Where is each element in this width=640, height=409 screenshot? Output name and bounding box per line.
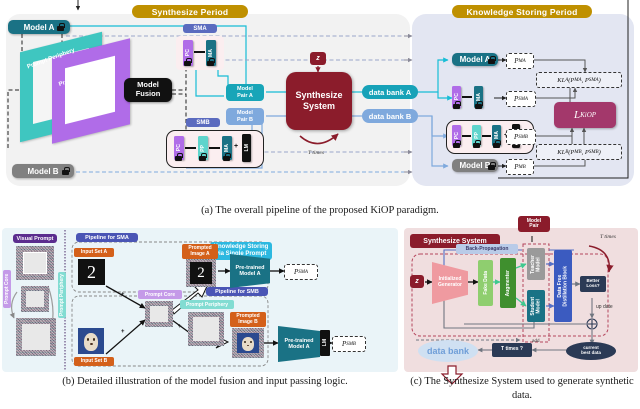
- prompted-digit-a: 2: [190, 262, 212, 284]
- teacher-model-block: Teacher Model: [527, 248, 545, 280]
- mp-l2: Pair: [527, 224, 541, 230]
- smb-arrow-1: [185, 147, 196, 149]
- pia-l2: Image A: [188, 252, 211, 258]
- pib-l2: Image B: [236, 320, 259, 326]
- prompt-periphery-image: [188, 312, 224, 346]
- pair-a-line1: Model: [237, 86, 253, 92]
- sma-tag: SMA: [183, 24, 217, 33]
- lock-icon: [207, 58, 214, 66]
- smb-ma-label: MA: [224, 144, 230, 152]
- synthesize-line2: System: [295, 101, 342, 112]
- data-bank-ellipse: data bank: [418, 340, 478, 362]
- prompted-image-a: 2: [186, 259, 216, 287]
- sma-ma-label: MA: [208, 49, 214, 57]
- kl-b-close: ): [599, 149, 601, 156]
- smb-lm-label: LM: [244, 144, 250, 152]
- prompt-core-image: [145, 301, 173, 327]
- store-smb-pp-label: PP: [474, 132, 480, 139]
- caption-c: (c) The Synthesize System used to genera…: [406, 375, 638, 403]
- lock-icon: [62, 167, 69, 175]
- caption-b: (b) Detailed illustration of the model f…: [10, 375, 400, 389]
- dfd-l2: Distillation Block: [562, 266, 568, 307]
- data-free-distillation-block: Data Free Distillation Block: [554, 250, 572, 322]
- prompted-image-b: [232, 328, 264, 358]
- prompt-periphery-tag-left: Prompt Periphery: [58, 272, 66, 318]
- kl-a-box: KLA(PMA, PSMA): [536, 72, 622, 88]
- lock-icon: [57, 23, 64, 31]
- smb-pp-label: PP: [200, 145, 206, 152]
- lock-icon: [175, 153, 182, 161]
- pretrained-model-a-smb[interactable]: Pre-trained Model A: [278, 326, 320, 362]
- knowledge-storing-period-label: Knowledge Storing Period: [452, 5, 592, 18]
- synthesize-system-box[interactable]: Synthesize System: [286, 72, 352, 130]
- data-bank-b[interactable]: data bank B: [362, 109, 418, 123]
- pipeline-smb-tag: Pipeline for SMB: [206, 287, 268, 296]
- plus-a: +: [121, 292, 125, 298]
- lock-icon: [475, 101, 482, 109]
- store-sma-arrow: [462, 96, 472, 98]
- p-smb-box-b: PSMB: [332, 336, 366, 352]
- kl-b-mid: , P: [582, 149, 589, 156]
- better-loss-box: Better Loss?: [580, 276, 606, 292]
- store-smb-pc-label: PC: [454, 132, 460, 139]
- bl-l2: Loss?: [586, 284, 599, 289]
- store-smb-arrow1: [462, 135, 471, 137]
- lock-icon: [453, 140, 460, 148]
- kl-a-symbol: KL: [557, 77, 565, 84]
- update-label: up date: [596, 304, 613, 310]
- lm-label-b: LM: [322, 339, 328, 346]
- n-times-label-c: T times: [600, 234, 616, 240]
- ks-line1: Knowledge Storing: [214, 244, 269, 251]
- lock-icon: [488, 56, 495, 64]
- back-propagation-tag: Back-Propagation: [456, 244, 518, 254]
- kl-a-mid: , P: [582, 77, 589, 84]
- synthesize-period-label: Synthesize Period: [132, 5, 248, 18]
- lock-icon: [223, 153, 230, 161]
- smb-tag: SMB: [186, 118, 220, 127]
- model-pair-tag-c: Model Pair: [518, 216, 550, 232]
- store-pc-label: PC: [454, 93, 460, 100]
- model-fusion-line2: Fusion: [136, 90, 161, 99]
- kl-b-arg2: SMB: [589, 150, 599, 155]
- pair-b-line1: Model: [237, 110, 253, 116]
- store-smb-arrow2: [482, 135, 491, 137]
- prompt-core-tag-mid: Prompt Core: [138, 290, 182, 299]
- smb-plus: +: [234, 143, 238, 150]
- model-pair-b-tag[interactable]: Model Pair B: [226, 108, 264, 125]
- synthesize-line1: Synthesize: [295, 90, 342, 101]
- smb-lm-block: LM: [242, 134, 251, 162]
- fake-data-label: Fake Data: [483, 271, 489, 295]
- input-digit-a: 2: [78, 259, 105, 285]
- student-model-block: Student Model: [527, 290, 545, 322]
- p-mb-subscript: MB: [519, 165, 526, 170]
- input-set-a-tag: Input Set A: [74, 248, 114, 257]
- pipeline-sma-tag: Pipeline for SMA: [76, 233, 138, 242]
- current-best-data-ellipse: current best data: [566, 342, 616, 360]
- z-box-c: z: [410, 275, 424, 288]
- pmB-l2: Model A: [284, 344, 313, 350]
- cbd-l2: best data: [581, 351, 601, 356]
- prompt-core-patch: [21, 286, 49, 312]
- lock-icon: [199, 153, 206, 161]
- augmenter-label: Augmenter: [505, 270, 511, 296]
- augmenter-block: Augmenter: [500, 258, 516, 308]
- n-times-label: T times: [308, 150, 324, 156]
- teacher-l2: Model: [535, 257, 541, 271]
- plus-b: +: [121, 329, 125, 335]
- p-smb-subscript: SMB: [518, 135, 528, 140]
- pair-b-line2: Pair B: [237, 117, 253, 123]
- t-times-question-box: T times ?: [492, 343, 532, 357]
- prompt-periphery-tag-mid: Prompt Periphery: [180, 300, 234, 309]
- prompt-core-tag-left: Prompt Core: [3, 270, 11, 308]
- plus-c: +: [178, 324, 182, 330]
- p-sma-subscript: SMA: [518, 97, 528, 102]
- prompted-image-b-tag: Prompted Image B: [230, 312, 266, 327]
- gen-l2: Generator: [438, 283, 462, 289]
- lm-bar-b: LM: [320, 330, 330, 356]
- input-set-b-tag: Input Set B: [74, 357, 114, 366]
- student-l2: Model: [535, 299, 541, 313]
- visual-prompt-tag: Visual Prompt: [13, 234, 57, 243]
- p-smb-sub-b: SMB: [346, 342, 356, 347]
- p-sma-sub-b: SMA: [298, 270, 308, 275]
- sma-arrow: [194, 51, 205, 53]
- kl-a-arg2: SMA: [589, 78, 599, 83]
- store-ma-label: MA: [476, 93, 482, 101]
- p-sma-box: PSMA: [506, 91, 536, 107]
- p-sma-box-b: PSMA: [284, 264, 318, 280]
- data-bank-a[interactable]: data bank A: [362, 85, 418, 99]
- fake-data-block: Fake Data: [478, 260, 493, 306]
- kl-a-arg1: MA: [574, 78, 581, 83]
- pretrained-model-a-sma[interactable]: Pre-trained Model A: [230, 254, 270, 288]
- store-smb-ma-label: MA: [494, 131, 500, 139]
- p-mb-box: PMB: [506, 159, 534, 175]
- p-ma-subscript: MA: [519, 59, 526, 64]
- add-label: add: [532, 338, 540, 343]
- loss-kiop-box: LKiOP: [554, 102, 616, 128]
- lock-icon: [488, 162, 495, 170]
- p-smb-box: PSMB: [506, 129, 536, 145]
- kl-b-box: KLB(PMB, PSMB): [536, 144, 622, 160]
- lock-icon: [184, 58, 191, 66]
- p-ma-box: PMA: [506, 53, 534, 69]
- z-input-box: z: [310, 52, 326, 65]
- sma-pc-label: PC: [185, 49, 191, 56]
- model-pair-a-tag[interactable]: Model Pair A: [226, 84, 264, 101]
- loss-subscript: KiOP: [580, 111, 596, 119]
- prompted-image-a-tag: Prompted Image A: [182, 244, 218, 259]
- lock-icon: [473, 140, 480, 148]
- smb-arrow-2: [209, 147, 220, 149]
- lock-icon: [453, 101, 460, 109]
- lock-icon: [493, 140, 500, 148]
- model-fusion-box[interactable]: Model Fusion: [124, 78, 172, 102]
- panel-b-model-fusion-logic: Visual Prompt Prompt Core Prompt Periphe…: [2, 228, 398, 372]
- caption-a: (a) The overall pipeline of the proposed…: [0, 205, 640, 216]
- pair-a-line2: Pair A: [237, 93, 253, 99]
- input-dog-b: [78, 328, 104, 354]
- panel-a-overall-pipeline: Gradient Back-Propagation for Updating P…: [0, 0, 640, 190]
- prompt-periphery-patch: [16, 318, 56, 356]
- visual-prompt-full: [16, 246, 54, 280]
- smb-pc-label: PC: [176, 144, 182, 151]
- kl-b-symbol: KL: [557, 149, 565, 156]
- panel-c-synthesize-system: Synthesize System Model Pair T times Bac…: [404, 228, 638, 372]
- kl-a-close: ): [599, 77, 601, 84]
- pmA-l2: Model A: [235, 271, 264, 277]
- kl-b-arg1: MB: [574, 150, 581, 155]
